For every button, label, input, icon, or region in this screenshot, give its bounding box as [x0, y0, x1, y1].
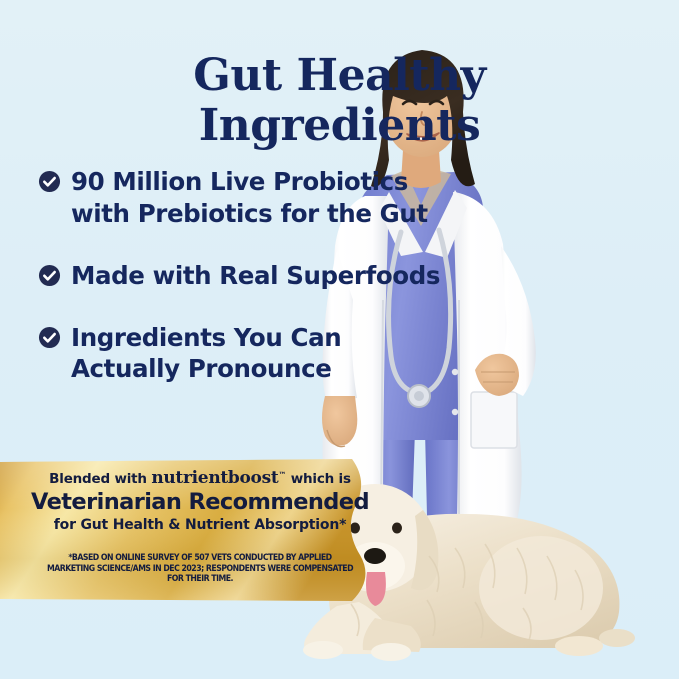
banner-subline: for Gut Health & Nutrient Absorption* — [54, 517, 346, 533]
page-title: Gut Healthy Ingredients — [0, 51, 679, 150]
benefit-text: 90 Million Live Probiotics with Prebioti… — [71, 166, 451, 230]
list-item: Made with Real Superfoods — [38, 260, 458, 292]
vet-recommended-banner: Blended with nutrientboost™ which is Vet… — [0, 459, 400, 601]
benefit-text: Ingredients You Can Actually Pronounce — [71, 322, 451, 386]
check-circle-icon — [38, 170, 61, 193]
benefit-text: Made with Real Superfoods — [71, 260, 440, 292]
banner-fine-print: *BASED ON ONLINE SURVEY OF 507 VETS COND… — [47, 552, 354, 584]
brand-name: nutrientboost — [151, 468, 278, 488]
banner-line1-suffix: which is — [286, 471, 351, 487]
headline-line-2: Ingredients — [0, 101, 679, 150]
list-item: 90 Million Live Probiotics with Prebioti… — [38, 166, 458, 230]
benefits-list: 90 Million Live Probiotics with Prebioti… — [38, 166, 458, 385]
banner-line1-prefix: Blended with — [49, 471, 151, 487]
product-benefits-ad: Gut Healthy Ingredients 90 Million Live … — [0, 0, 679, 679]
headline-line-1: Gut Healthy — [193, 50, 485, 101]
check-circle-icon — [38, 326, 61, 349]
list-item: Ingredients You Can Actually Pronounce — [38, 322, 458, 386]
banner-line-1: Blended with nutrientboost™ which is — [49, 468, 351, 488]
check-circle-icon — [38, 264, 61, 287]
banner-headline: Veterinarian Recommended — [31, 489, 369, 515]
